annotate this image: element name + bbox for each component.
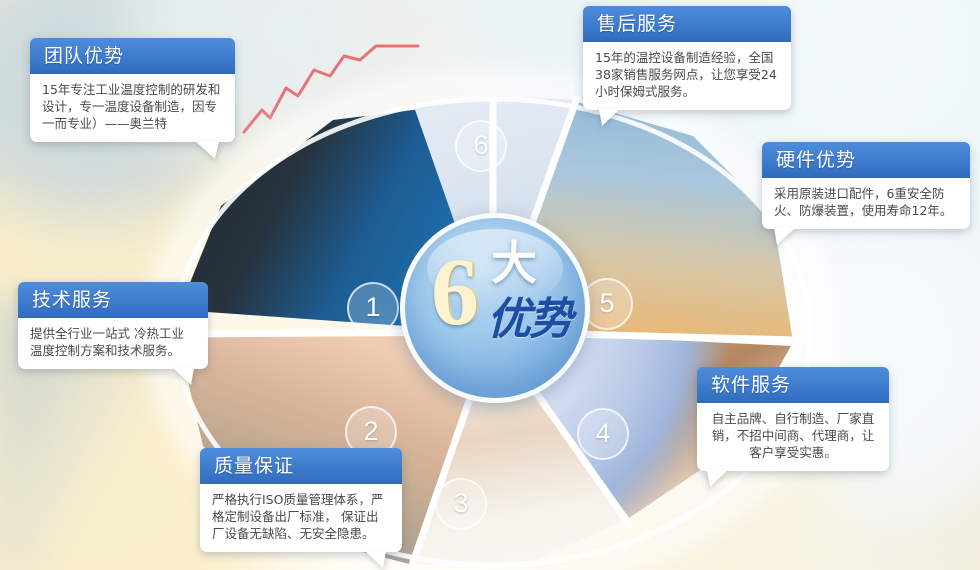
callout-card-team[interactable]: 团队优势 15年专注工业温度控制的研发和设计，专一温度设备制造，因专一而专业）—…: [30, 38, 235, 142]
infographic-canvas: 1 2 3 4 5 6 6 大 优势 团队优势 15年专注工业温度控制的研发和设…: [0, 0, 980, 570]
card-tail: [195, 141, 219, 159]
card-tail: [173, 368, 194, 385]
card-tail: [707, 470, 728, 487]
segment-number-4[interactable]: 4: [577, 408, 629, 460]
card-title-after-sales: 售后服务: [583, 6, 791, 42]
card-body-tech: 提供全行业一站式 冷热工业温度控制方案和技术服务。: [18, 318, 208, 369]
center-number: 6: [431, 244, 479, 340]
card-tail: [599, 109, 620, 126]
card-title-team: 团队优势: [30, 38, 235, 74]
card-title-quality: 质量保证: [200, 448, 402, 484]
center-big-char: 大: [491, 240, 537, 286]
callout-card-quality[interactable]: 质量保证 严格执行ISO质量管理体系，严格定制设备出厂标准， 保证出厂设备无缺陷…: [200, 448, 402, 552]
segment-number-1[interactable]: 1: [347, 282, 399, 334]
callout-card-hardware[interactable]: 硬件优势 采用原装进口配件，6重安全防火、防爆装置，使用寿命12年。: [762, 142, 970, 229]
card-title-software: 软件服务: [697, 367, 889, 403]
card-title-hardware: 硬件优势: [762, 142, 970, 178]
callout-card-after-sales[interactable]: 售后服务 15年的温控设备制造经验，全国38家销售服务网点，让您享受24小时保姆…: [583, 6, 791, 110]
segment-number-6[interactable]: 6: [455, 120, 507, 172]
segment-number-3[interactable]: 3: [435, 478, 487, 530]
card-tail: [365, 551, 386, 568]
callout-card-tech[interactable]: 技术服务 提供全行业一站式 冷热工业温度控制方案和技术服务。: [18, 282, 208, 369]
card-body-hardware: 采用原装进口配件，6重安全防火、防爆装置，使用寿命12年。: [762, 178, 970, 229]
card-title-tech: 技术服务: [18, 282, 208, 318]
card-body-software: 自主品牌、自行制造、厂家直销，不招中间商、代理商，让客户享受实惠。: [697, 403, 889, 471]
card-body-team: 15年专注工业温度控制的研发和设计，专一温度设备制造，因专一而专业）——奥兰特: [30, 74, 235, 142]
card-body-after-sales: 15年的温控设备制造经验，全国38家销售服务网点，让您享受24小时保姆式服务。: [583, 42, 791, 110]
card-tail: [774, 228, 795, 245]
center-script-word: 优势: [487, 296, 571, 344]
callout-card-software[interactable]: 软件服务 自主品牌、自行制造、厂家直销，不招中间商、代理商，让客户享受实惠。: [697, 367, 889, 471]
card-body-quality: 严格执行ISO质量管理体系，严格定制设备出厂标准， 保证出厂设备无缺陷、无安全隐…: [200, 484, 402, 552]
center-badge: 6 大 优势: [400, 213, 590, 403]
